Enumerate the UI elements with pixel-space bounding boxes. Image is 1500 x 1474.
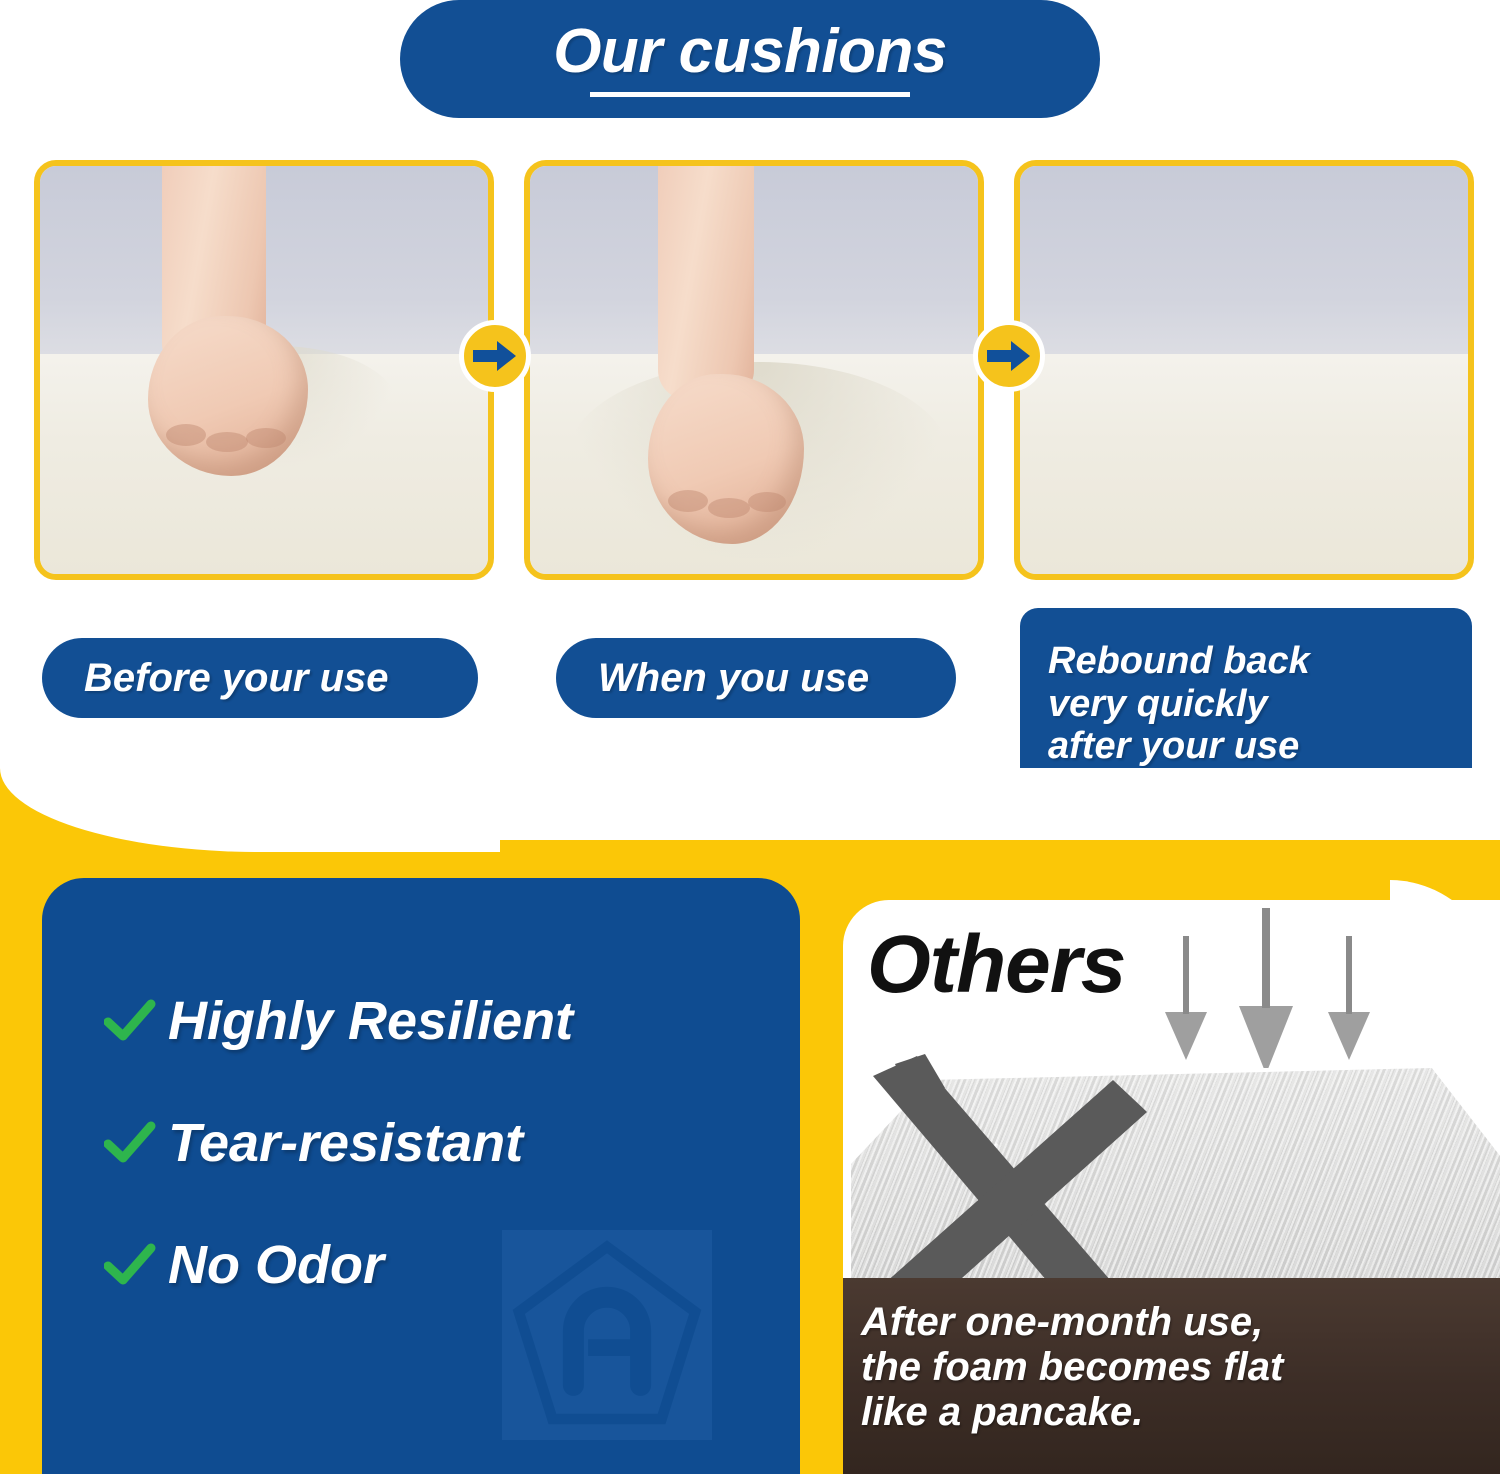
caption-line-2: very quickly (1048, 683, 1472, 726)
caption-line-3: after your use (1048, 725, 1472, 768)
forearm-shape (658, 160, 754, 400)
page-title: Our cushions (553, 21, 947, 83)
pentagon-a-logo-icon (502, 1230, 712, 1440)
benefit-label: Highly Resilient (168, 990, 573, 1052)
caption-text: When you use (598, 656, 956, 701)
caption-when-you-use: When you use (556, 638, 956, 718)
benefit-item: Highly Resilient (104, 960, 764, 1082)
yellow-step-right (500, 768, 1500, 840)
others-caption-band: After one-month use, the foam becomes fl… (843, 1278, 1500, 1474)
foam-surface (1020, 354, 1468, 574)
benefits-panel: Highly Resilient Tear-resistant No Odor (42, 878, 800, 1474)
benefit-label: No Odor (168, 1234, 384, 1296)
photo-backdrop (1020, 166, 1468, 354)
others-caption-line-3: like a pancake. (861, 1390, 1481, 1435)
knuckle-crease (748, 492, 786, 512)
fist-shape (148, 316, 308, 476)
check-icon (104, 999, 168, 1043)
check-icon (104, 1121, 168, 1165)
photo-backdrop (530, 166, 978, 354)
step-photo-after (1014, 160, 1474, 580)
caption-line-1: Rebound back (1048, 640, 1472, 683)
knuckle-crease (206, 432, 248, 452)
page-title-pill: Our cushions (400, 0, 1100, 118)
right-arrow-icon (473, 339, 517, 373)
title-underline (590, 92, 910, 97)
infographic-page: Our cushions (0, 0, 1500, 1474)
check-icon (104, 1243, 168, 1287)
right-arrow-badge-1 (459, 320, 531, 392)
right-arrow-badge-2 (973, 320, 1045, 392)
fist-shape (648, 374, 804, 544)
knuckle-crease (668, 490, 708, 512)
others-caption-line-1: After one-month use, (861, 1300, 1481, 1345)
knuckle-crease (246, 428, 286, 448)
others-caption-line-2: the foam becomes flat (861, 1345, 1481, 1390)
knuckle-crease (166, 424, 206, 446)
step-photo-during (524, 160, 984, 580)
caption-before-your-use: Before your use (42, 638, 478, 718)
down-arrows-group (1143, 908, 1393, 1073)
right-arrow-icon (987, 339, 1031, 373)
benefit-item: Tear-resistant (104, 1082, 764, 1204)
step-photo-before (34, 160, 494, 580)
others-caption: After one-month use, the foam becomes fl… (861, 1300, 1481, 1434)
caption-text: Before your use (84, 656, 478, 701)
others-title: Others (867, 918, 1125, 1012)
benefit-label: Tear-resistant (168, 1112, 523, 1174)
knuckle-crease (708, 498, 750, 518)
